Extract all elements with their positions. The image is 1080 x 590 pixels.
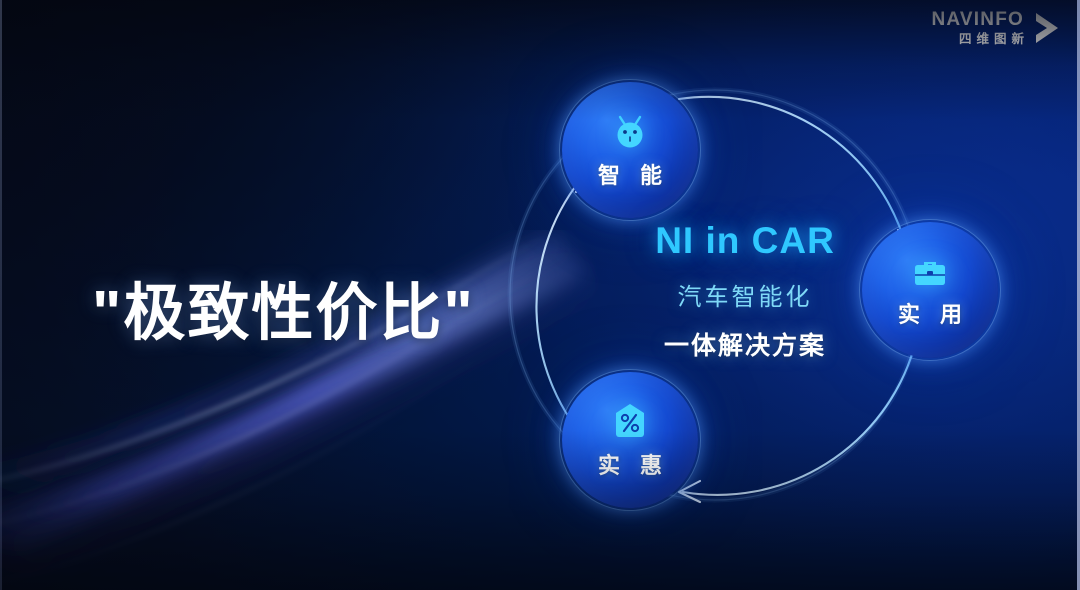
brand-name-en: NAVINFO <box>932 10 1025 29</box>
node-value-label: 实 惠 <box>598 448 669 480</box>
node-useful[interactable]: 实 用 <box>862 222 998 358</box>
cycle-diagram: 智 能 实 用 <box>500 40 1040 550</box>
slide-canvas: "极致性价比" NAVINFO 四维图新 <box>0 0 1080 590</box>
briefcase-icon <box>909 251 951 293</box>
price-tag-percent-icon <box>609 400 651 444</box>
node-smart-label: 智 能 <box>598 158 669 190</box>
node-useful-label: 实 用 <box>898 297 969 329</box>
page-title: "极致性价比" <box>92 262 475 352</box>
android-robot-icon <box>608 110 652 154</box>
left-edge-strip <box>0 0 2 590</box>
node-value[interactable]: 实 惠 <box>562 372 698 508</box>
node-smart[interactable]: 智 能 <box>562 82 698 218</box>
